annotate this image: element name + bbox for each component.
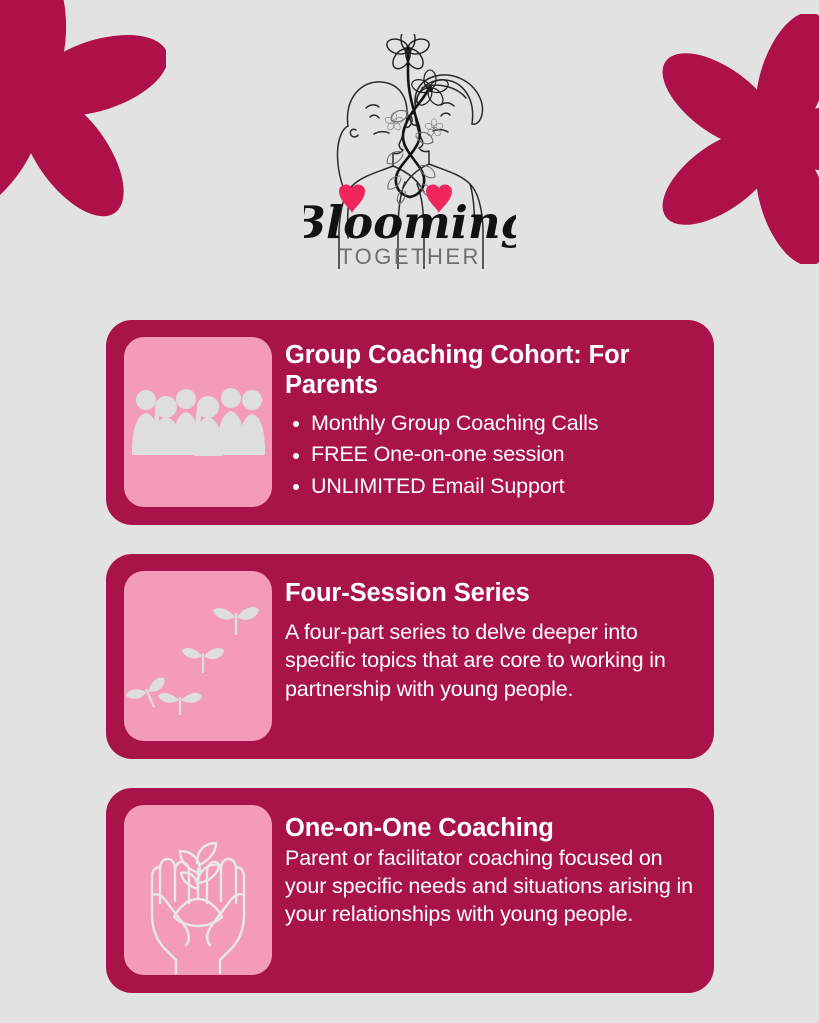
card-title: Four-Session Series — [285, 579, 698, 609]
poster-canvas: Blooming TOGETHER — [0, 0, 819, 1023]
card-four-session-series[interactable]: Four-Session Series A four-part series t… — [106, 554, 714, 759]
card-title: Group Coaching Cohort: For Parents — [285, 341, 698, 401]
card-body: Four-Session Series A four-part series t… — [285, 571, 698, 704]
list-item: FREE One-on-one session — [289, 439, 698, 471]
blooming-together-logo: Blooming TOGETHER — [304, 34, 516, 269]
hands-holding-plant-icon — [124, 805, 272, 975]
card-description: Parent or facilitator coaching focused o… — [285, 845, 698, 929]
sprouting-seedlings-icon — [124, 571, 272, 741]
card-one-on-one-coaching[interactable]: One-on-One Coaching Parent or facilitato… — [106, 788, 714, 993]
logo-area: Blooming TOGETHER — [0, 34, 819, 269]
list-item: UNLIMITED Email Support — [289, 471, 698, 503]
card-bullet-list: Monthly Group Coaching Calls FREE One-on… — [285, 408, 698, 503]
logo-script-text: Blooming — [304, 196, 516, 249]
card-description: A four-part series to delve deeper into … — [285, 618, 698, 704]
card-body: One-on-One Coaching Parent or facilitato… — [285, 805, 698, 929]
group-of-people-icon — [124, 337, 272, 507]
card-title: One-on-One Coaching — [285, 814, 698, 844]
offerings-list: Group Coaching Cohort: For Parents Month… — [106, 320, 714, 993]
list-item: Monthly Group Coaching Calls — [289, 408, 698, 440]
card-group-coaching-cohort[interactable]: Group Coaching Cohort: For Parents Month… — [106, 320, 714, 525]
logo-subtitle-text: TOGETHER — [339, 244, 481, 269]
card-body: Group Coaching Cohort: For Parents Month… — [285, 337, 698, 502]
